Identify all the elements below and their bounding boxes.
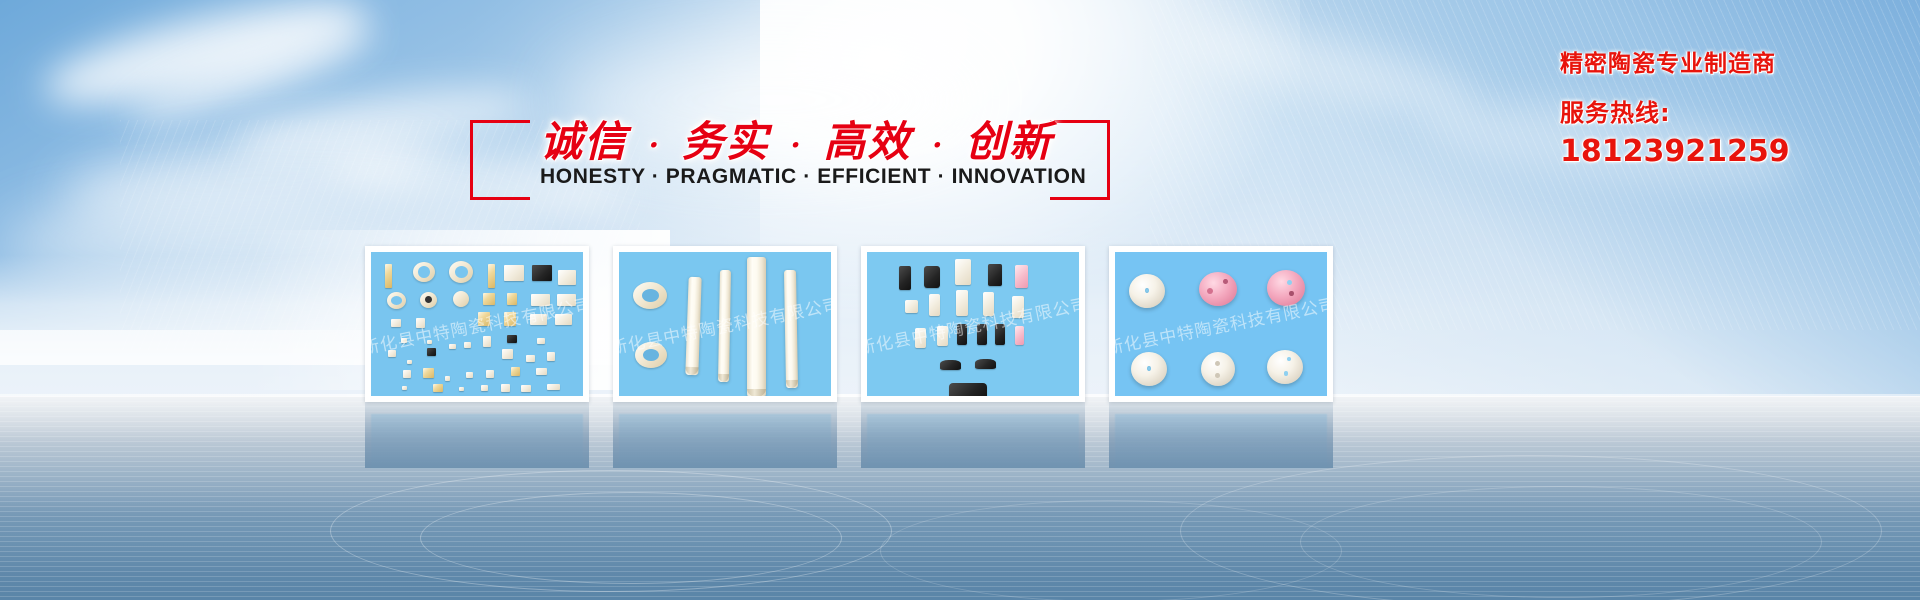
slogan-separator-icon: · <box>786 128 806 163</box>
water-ripple <box>1300 486 1822 598</box>
slogan-separator-icon: · <box>645 128 665 163</box>
contact-block: 精密陶瓷专业制造商 服务热线: 18123921259 <box>1560 52 1900 169</box>
bracket-bottom-right <box>1050 197 1110 200</box>
company-tagline: 精密陶瓷专业制造商 <box>1560 52 1900 77</box>
bracket-top-right <box>1050 120 1110 123</box>
hero-banner: 诚信 · 务实 · 高效 · 创新 HONESTY · PRAGMATIC · … <box>0 0 1920 600</box>
slogan-word-3: 高效 <box>823 117 911 166</box>
hotline-label: 服务热线: <box>1560 93 1900 128</box>
water-ripple <box>420 492 842 584</box>
reflection-fade <box>861 402 1085 468</box>
panel-canvas: 新化县中特陶瓷科技有限公司 <box>867 252 1079 396</box>
panel-canvas: 新化县中特陶瓷科技有限公司 <box>371 252 583 396</box>
bracket-right-vert <box>1107 120 1110 200</box>
slogan-block: 诚信 · 务实 · 高效 · 创新 HONESTY · PRAGMATIC · … <box>470 108 1110 204</box>
slogan-chinese: 诚信 · 务实 · 高效 · 创新 <box>540 108 1040 169</box>
slogan-word-1: 诚信 <box>540 117 628 166</box>
product-panel-row: 新化县中特陶瓷科技有限公司 新化县中特陶瓷科技有限公 <box>365 246 1555 402</box>
panel-canvas: 新化县中特陶瓷科技有限公司 <box>619 252 831 396</box>
slogan-english: HONESTY · PRAGMATIC · EFFICIENT · INNOVA… <box>540 165 1040 189</box>
slogan-separator-icon: · <box>928 128 948 163</box>
product-panel-ceramic-blocks[interactable]: 新化县中特陶瓷科技有限公司 <box>861 246 1085 402</box>
product-panel-ceramic-tubes[interactable]: 新化县中特陶瓷科技有限公司 <box>613 246 837 402</box>
reflection-fade <box>365 402 589 468</box>
hotline-number[interactable]: 18123921259 <box>1560 134 1900 169</box>
water-ripple <box>880 500 1342 600</box>
product-panel-chip-components[interactable]: 新化县中特陶瓷科技有限公司 <box>365 246 589 402</box>
bracket-left-vert <box>470 120 473 200</box>
slogan-word-4: 创新 <box>965 117 1053 166</box>
reflection-fade <box>613 402 837 468</box>
slogan-word-2: 务实 <box>682 117 770 166</box>
product-panel-ceramic-discs[interactable]: 新化县中特陶瓷科技有限公司 <box>1109 246 1333 402</box>
bracket-top-left <box>470 120 530 123</box>
reflection-fade <box>1109 402 1333 468</box>
bracket-bottom-left <box>470 197 530 200</box>
panel-canvas: 新化县中特陶瓷科技有限公司 <box>1115 252 1327 396</box>
